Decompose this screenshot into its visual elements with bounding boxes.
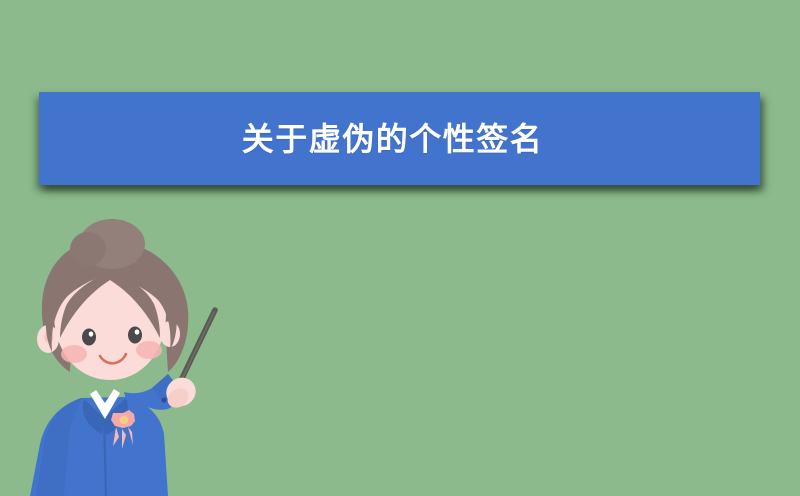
teacher-illustration xyxy=(18,222,248,496)
jacket xyxy=(30,397,168,496)
hair-bun xyxy=(70,219,145,269)
title-banner: 关于虚伪的个性签名 xyxy=(39,92,760,185)
slide-canvas: 关于虚伪的个性签名 xyxy=(0,0,800,496)
sleeve-button xyxy=(161,397,166,402)
page-title: 关于虚伪的个性签名 xyxy=(242,123,544,155)
